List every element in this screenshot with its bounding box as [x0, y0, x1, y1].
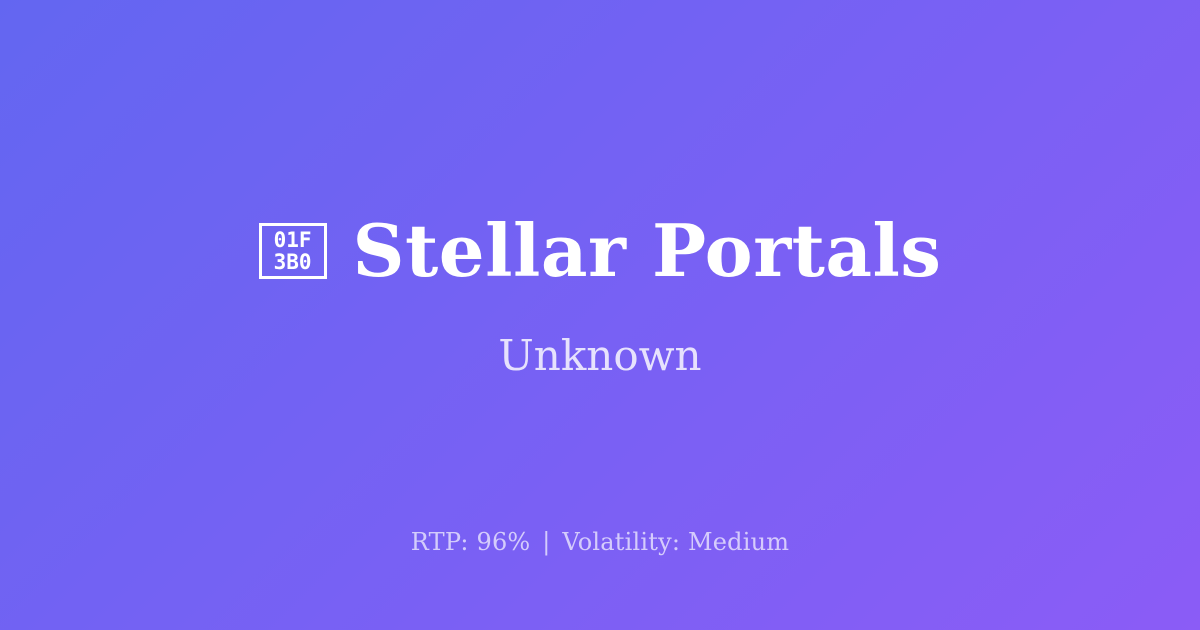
- footer-meta: RTP: 96% | Volatility: Medium: [0, 527, 1200, 558]
- meta-separator: |: [538, 528, 554, 556]
- volatility-label: Volatility:: [562, 528, 680, 556]
- slot-machine-icon-hex-bottom: 3B0: [274, 251, 312, 273]
- rtp-value: 96%: [476, 528, 530, 556]
- slot-machine-icon: 01F 3B0: [259, 223, 327, 279]
- hero-block: 01F 3B0 Stellar Portals Unknown: [0, 213, 1200, 381]
- title-row: 01F 3B0 Stellar Portals: [259, 213, 942, 289]
- rtp-label: RTP:: [411, 528, 469, 556]
- page-title: Stellar Portals: [353, 213, 942, 289]
- volatility-value: Medium: [688, 528, 789, 556]
- slot-machine-icon-hex-top: 01F: [274, 229, 312, 251]
- og-share-card: 01F 3B0 Stellar Portals Unknown RTP: 96%…: [0, 0, 1200, 630]
- page-subtitle: Unknown: [498, 331, 701, 381]
